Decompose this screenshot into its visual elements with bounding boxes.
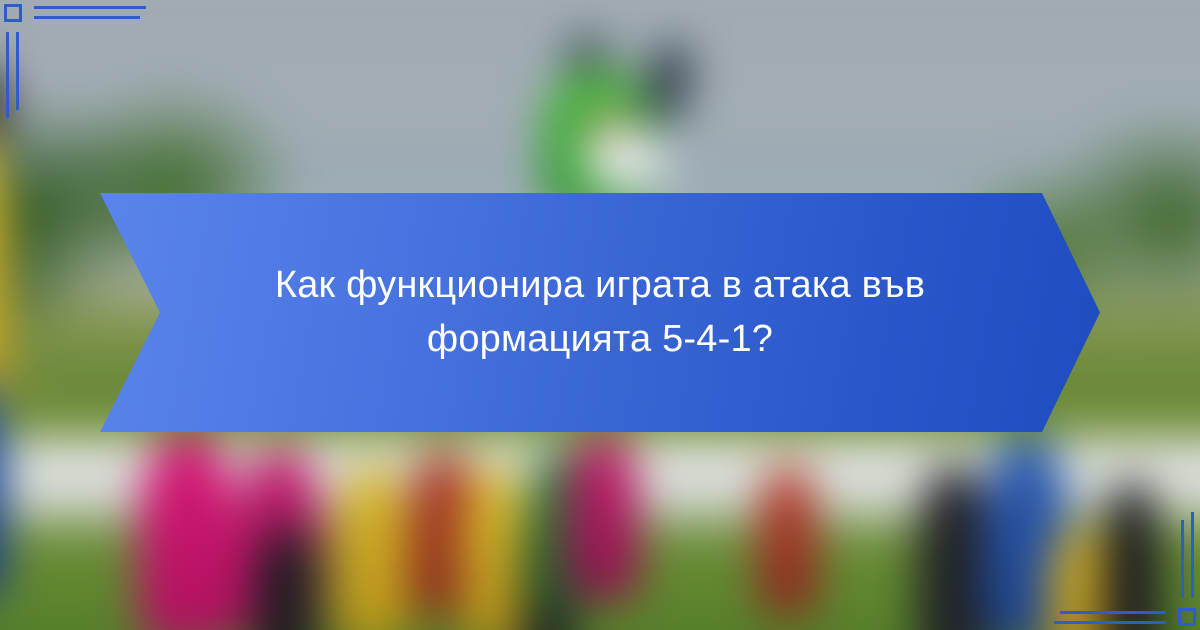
corner-ornament-top-left (0, 0, 120, 96)
corner-line-horizontal-inner (1060, 611, 1166, 614)
corner-ornament-bottom-right (1080, 534, 1200, 630)
corner-square-icon (4, 4, 22, 22)
corner-line-vertical-inner (1181, 520, 1184, 598)
corner-line-vertical-outer (6, 32, 9, 118)
corner-line-vertical-outer (1191, 512, 1194, 598)
corner-line-horizontal-outer (34, 6, 146, 9)
corner-line-vertical-inner (16, 32, 19, 110)
corner-line-horizontal-inner (34, 16, 140, 19)
headline-banner: Как функционира играта в атака във форма… (100, 193, 1100, 432)
headline-text: Как функционира играта в атака във форма… (230, 259, 970, 367)
corner-square-icon (1178, 608, 1196, 626)
corner-line-horizontal-outer (1054, 621, 1166, 624)
social-card: Как функционира играта в атака във форма… (0, 0, 1200, 630)
